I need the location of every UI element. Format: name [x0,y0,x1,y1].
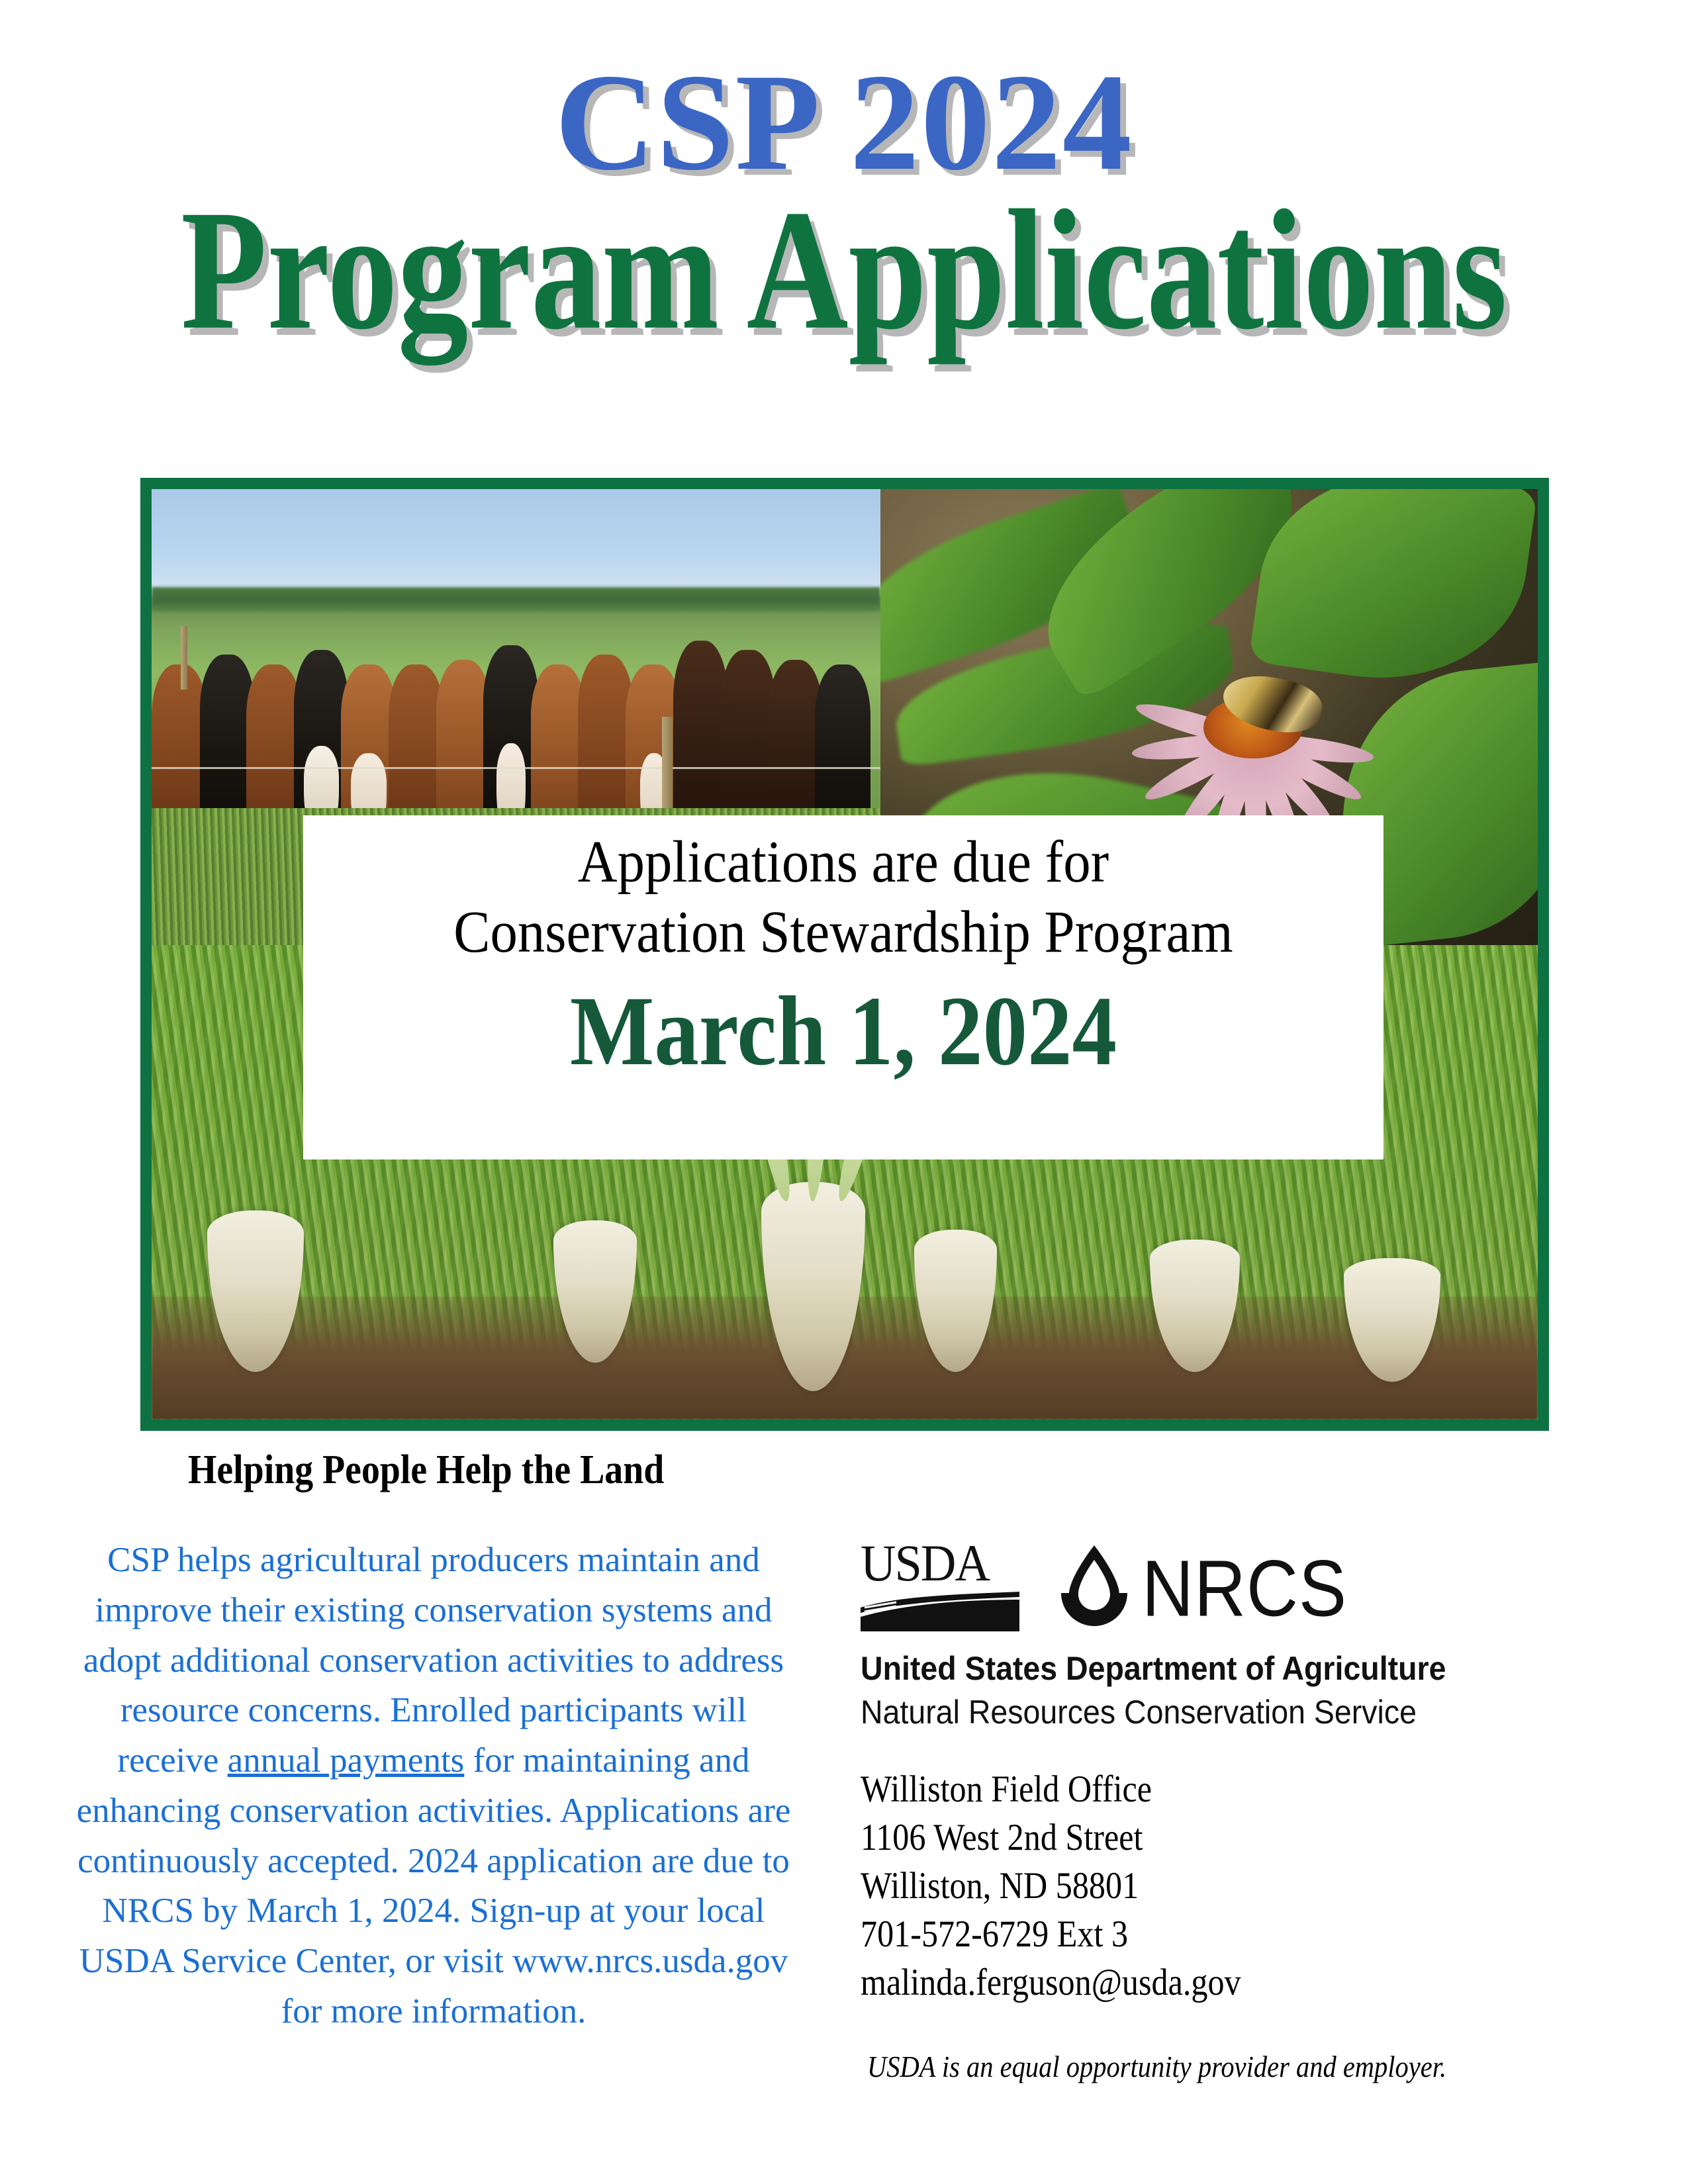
usda-landscape-icon [861,1590,1023,1635]
page-subtitle: Program Applications [152,180,1536,361]
equal-opportunity-disclaimer: USDA is an equal opportunity provider an… [867,2050,1552,2084]
program-description-text: CSP helps agricultural producers maintai… [66,1535,801,2037]
page-title: CSP 2024 [0,53,1688,192]
usda-nrcs-logo-lockup: USDA NRCS [861,1535,1628,1635]
usda-wordmark: USDA [861,1539,1015,1588]
agency-subname-line: Natural Resources Conservation Service [861,1693,1575,1731]
nrcs-wordmark: NRCS [1142,1552,1347,1624]
callout-line-1: Applications are due for [346,827,1340,897]
deadline-callout-box: Applications are due for Conservation St… [303,815,1383,1160]
deadline-date: March 1, 2024 [357,974,1330,1089]
nrcs-logo: NRCS [1057,1541,1347,1635]
office-email[interactable]: malinda.ferguson@usda.gov [861,1959,1536,2007]
program-description-column: CSP helps agricultural producers maintai… [66,1535,801,2037]
agency-contact-column: USDA NRCS Unit [861,1535,1628,2084]
flyer-title-block: CSP 2024 Program Applications [0,53,1688,361]
office-contact-block: Williston Field Office 1106 West 2nd Str… [861,1766,1536,2007]
office-street: 1106 West 2nd Street [861,1814,1536,1862]
agency-name-line: United States Department of Agriculture [861,1649,1575,1688]
bottom-content: CSP helps agricultural producers maintai… [0,1535,1688,2131]
agency-tagline: Helping People Help the Land [188,1447,664,1494]
office-city-state-zip: Williston, ND 58801 [861,1862,1536,1911]
water-droplet-icon [1057,1541,1131,1635]
callout-line-2: Conservation Stewardship Program [346,897,1340,968]
office-name: Williston Field Office [861,1766,1536,1814]
annual-payments-emphasis: annual payments [228,1741,465,1780]
usda-logo: USDA [861,1539,1023,1635]
office-phone[interactable]: 701-572-6729 Ext 3 [861,1911,1536,1959]
